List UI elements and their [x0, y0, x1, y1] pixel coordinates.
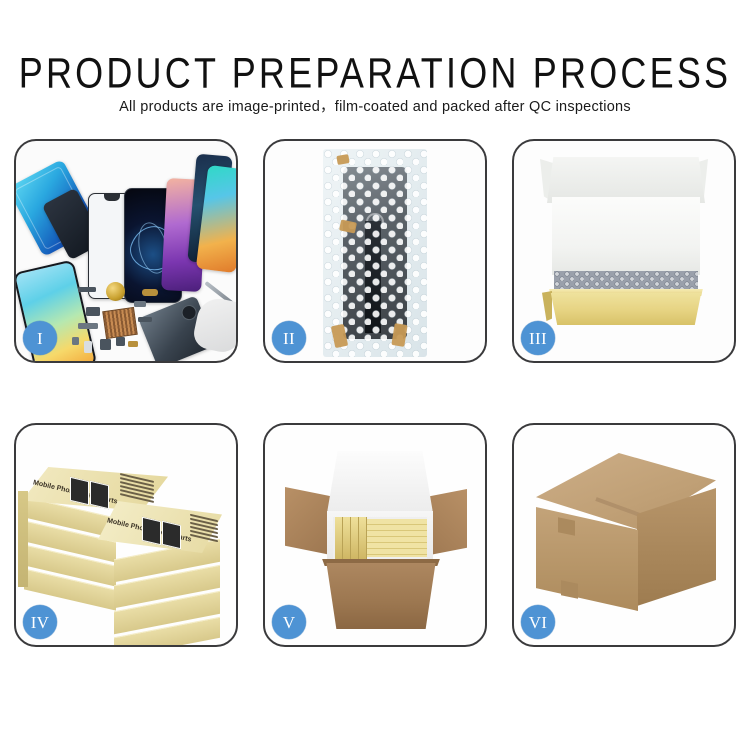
- stack-left-edge: [18, 491, 28, 587]
- step-panel-4: Mobile Phone Spare Parts Mobile Phone Sp…: [14, 423, 238, 647]
- step-badge-5: V: [272, 605, 306, 639]
- step-badge-2: II: [272, 321, 306, 355]
- packed-units-group: [333, 517, 427, 559]
- speaker-component: [106, 282, 125, 301]
- packed-unit-row: [367, 519, 427, 557]
- box-window-thumb: [70, 477, 89, 505]
- small-part: [78, 323, 98, 329]
- small-part: [84, 341, 92, 353]
- step-panel-2: II: [263, 139, 487, 363]
- step-panel-1: I: [14, 139, 238, 363]
- packed-unit: [359, 517, 367, 559]
- small-part: [142, 289, 158, 296]
- small-part: [128, 341, 138, 347]
- packed-unit: [343, 517, 351, 559]
- process-steps-grid: I II: [14, 139, 736, 671]
- printed-box-top: Mobile Phone Spare Parts: [98, 501, 222, 553]
- small-part: [138, 317, 152, 322]
- product-preparation-infographic: PRODUCT PREPARATION PROCESS All products…: [0, 0, 750, 750]
- packed-unit: [351, 517, 359, 559]
- small-part: [134, 301, 146, 307]
- box-left-side: [542, 291, 552, 321]
- step-badge-4: IV: [23, 605, 57, 639]
- foam-box-lid: [327, 451, 433, 513]
- foam-liner: [552, 197, 700, 275]
- step-badge-6: VI: [521, 605, 555, 639]
- header: PRODUCT PREPARATION PROCESS All products…: [0, 0, 750, 116]
- small-part: [72, 337, 79, 345]
- small-part: [86, 307, 100, 316]
- step-badge-1: I: [23, 321, 57, 355]
- step-panel-3: III: [512, 139, 736, 363]
- step-panel-5: V: [263, 423, 487, 647]
- small-part: [100, 339, 111, 350]
- carton-tape-tab: [561, 580, 578, 599]
- circuit-board-chip: [102, 307, 138, 339]
- step-badge-3: III: [521, 321, 555, 355]
- small-part: [116, 337, 125, 346]
- box-window-thumb: [142, 517, 161, 545]
- box-window-thumb: [162, 521, 181, 549]
- box-front-panel: [546, 293, 706, 325]
- packed-unit: [335, 517, 343, 559]
- page-title: PRODUCT PREPARATION PROCESS: [0, 0, 750, 97]
- small-part: [78, 287, 96, 292]
- carton-body: [319, 563, 443, 629]
- step-panel-6: VI: [512, 423, 736, 647]
